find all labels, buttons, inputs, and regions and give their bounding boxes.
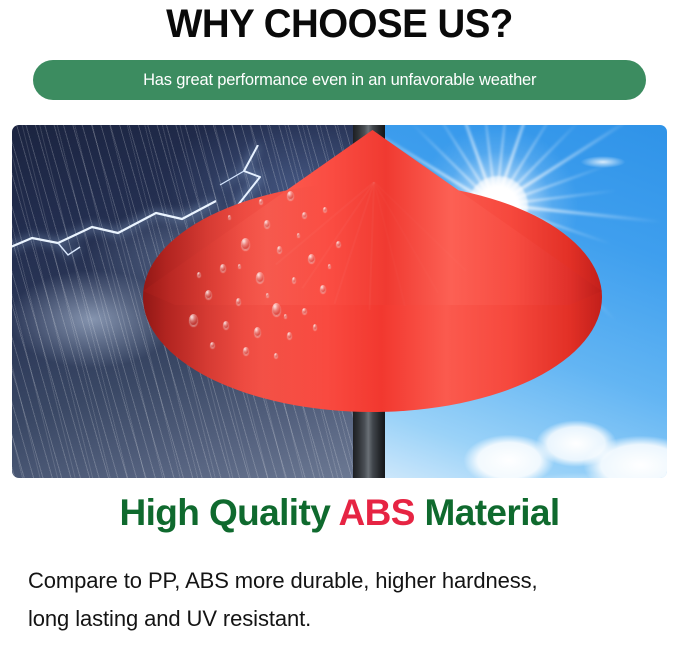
product-cone-group: [12, 125, 667, 478]
product-photo: [12, 125, 667, 478]
page-title: WHY CHOOSE US?: [14, 2, 666, 46]
headline-part2: Material: [415, 492, 560, 533]
abs-cone-baffle: [143, 182, 602, 412]
headline-part1: High Quality: [119, 492, 338, 533]
headline: High Quality ABS Material: [0, 492, 679, 534]
feature-banner-text: Has great performance even in an unfavor…: [143, 70, 536, 90]
body-line-1: Compare to PP, ABS more durable, higher …: [28, 562, 660, 600]
body-line-2: long lasting and UV resistant.: [28, 600, 660, 638]
infographic-page: WHY CHOOSE US? Has great performance eve…: [0, 0, 679, 646]
headline-highlight: ABS: [338, 492, 414, 533]
feature-banner: Has great performance even in an unfavor…: [33, 60, 646, 100]
body-copy: Compare to PP, ABS more durable, higher …: [28, 562, 660, 638]
